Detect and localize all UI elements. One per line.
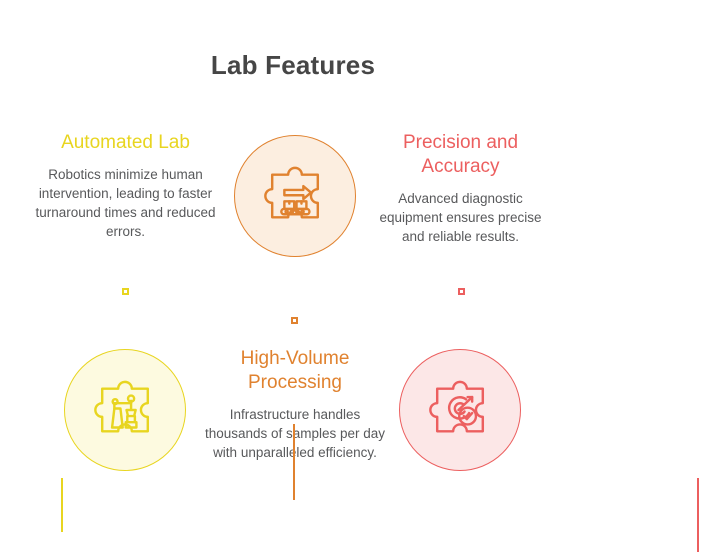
feature-title-automated-lab: Automated Lab (28, 131, 223, 155)
marker-dot-orange (291, 317, 298, 324)
robot-arm-puzzle-icon (87, 372, 163, 448)
feature-icon-circle-high-volume-processing (234, 135, 356, 257)
accent-bar-orange (293, 424, 295, 500)
conveyor-belt-puzzle-icon (257, 158, 333, 234)
feature-card-automated-lab: Automated Lab Robotics minimize human in… (28, 131, 223, 241)
marker-dot-yellow (122, 288, 129, 295)
slide-canvas: Lab Features Automated Lab Robotics mini… (0, 0, 702, 552)
feature-card-high-volume-processing: High-Volume Processing Infrastructure ha… (200, 347, 390, 462)
accent-bar-yellow (61, 478, 63, 532)
feature-title-precision-and-accuracy: Precision and Accuracy (378, 131, 543, 179)
feature-icon-circle-precision-and-accuracy (399, 349, 521, 471)
feature-title-high-volume-processing: High-Volume Processing (200, 347, 390, 395)
target-check-puzzle-icon (422, 372, 498, 448)
feature-description-precision-and-accuracy: Advanced diagnostic equipment ensures pr… (378, 189, 543, 246)
accent-bar-red (697, 478, 699, 552)
feature-card-precision-and-accuracy: Precision and Accuracy Advanced diagnost… (378, 131, 543, 246)
feature-description-automated-lab: Robotics minimize human intervention, le… (28, 165, 223, 241)
feature-icon-circle-automated-lab (64, 349, 186, 471)
feature-description-high-volume-processing: Infrastructure handles thousands of samp… (200, 405, 390, 462)
marker-dot-red (458, 288, 465, 295)
page-title: Lab Features (0, 50, 586, 81)
